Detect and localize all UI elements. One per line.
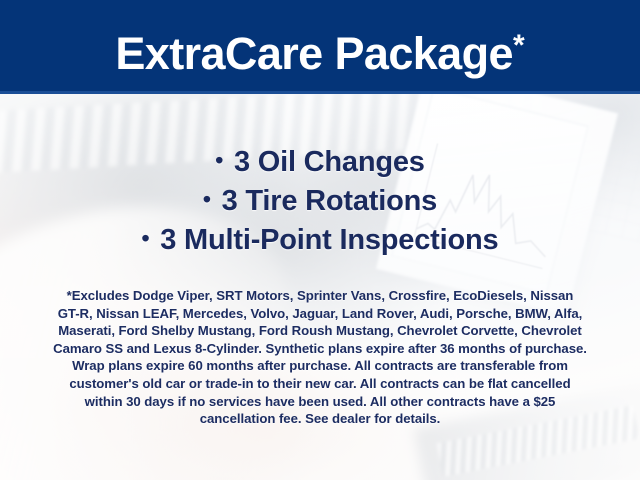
extracare-package-ad: ExtraCare Package* • 3 Oil Changes • 3 T… [0, 0, 640, 480]
header-underline [0, 91, 640, 94]
page-title-asterisk: * [513, 29, 525, 62]
disclaimer-line: Wrap plans expire 60 months after purcha… [26, 357, 614, 375]
page-title: ExtraCare Package* [0, 20, 640, 80]
disclaimer-line: *Excludes Dodge Viper, SRT Motors, Sprin… [26, 287, 614, 305]
disclaimer-line: customer's old car or trade-in to their … [26, 375, 614, 393]
bullet-icon: • [215, 147, 226, 173]
disclaimer-line: within 30 days if no services have been … [26, 393, 614, 411]
disclaimer-line: cancellation fee. See dealer for details… [26, 410, 614, 428]
bullet-icon: • [203, 186, 214, 212]
disclaimer-line: GT-R, Nissan LEAF, Mercedes, Volvo, Jagu… [26, 305, 614, 323]
benefit-item-3: • 3 Multi-Point Inspections [0, 220, 640, 259]
bullet-icon: • [142, 225, 153, 251]
disclaimer-line: Maserati, Ford Shelby Mustang, Ford Rous… [26, 322, 614, 340]
benefit-item-2: • 3 Tire Rotations [0, 181, 640, 220]
benefit-item-3-label: 3 Multi-Point Inspections [160, 224, 498, 256]
benefit-item-2-label: 3 Tire Rotations [222, 185, 437, 217]
benefits-list: • 3 Oil Changes • 3 Tire Rotations • 3 M… [0, 142, 640, 259]
page-title-text: ExtraCare Package [115, 28, 513, 79]
benefit-item-1: • 3 Oil Changes [0, 142, 640, 181]
benefit-item-1-label: 3 Oil Changes [234, 146, 425, 178]
disclaimer-line: Camaro SS and Lexus 8-Cylinder. Syntheti… [26, 340, 614, 358]
disclaimer-text: *Excludes Dodge Viper, SRT Motors, Sprin… [26, 287, 614, 428]
